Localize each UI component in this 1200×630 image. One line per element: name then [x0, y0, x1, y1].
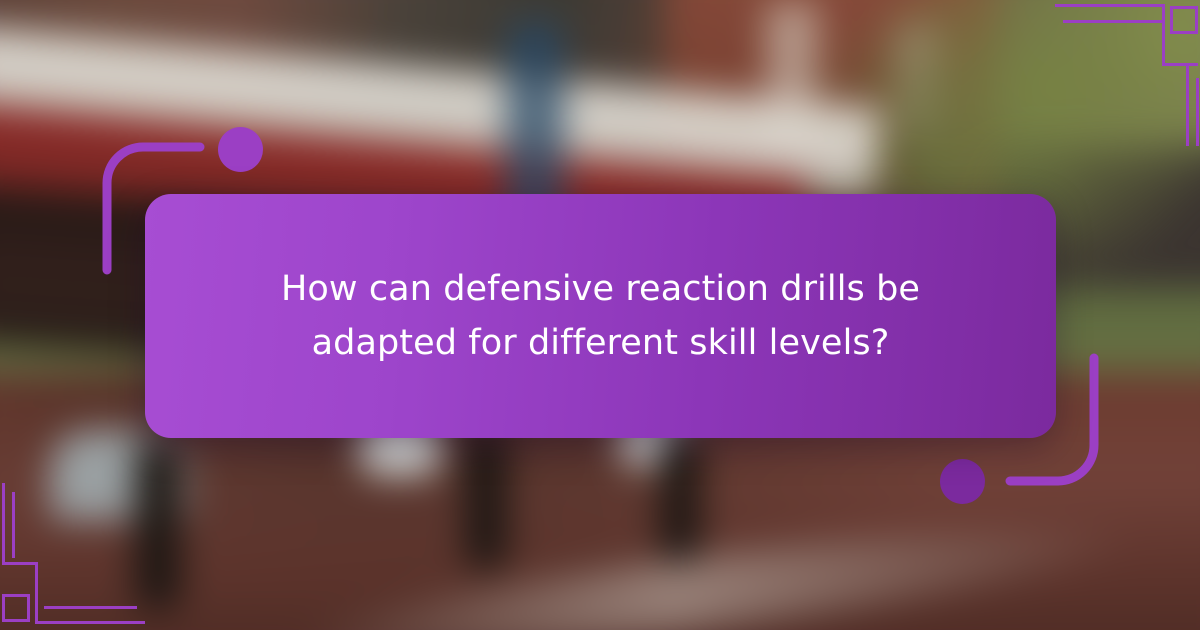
question-card: How can defensive reaction drills be ada… — [145, 194, 1056, 438]
frame-line-horizontal-inner — [1063, 20, 1164, 23]
dot-top-left — [218, 127, 263, 172]
frame-line-vertical-right-inner — [1196, 78, 1199, 146]
frame-corner-square — [2, 594, 30, 622]
dot-bottom-right — [940, 459, 985, 504]
frame-line-vertical-step — [35, 562, 38, 624]
frame-line-corner-connector — [2, 562, 38, 565]
frame-line-horizontal-outer — [1055, 4, 1165, 7]
frame-corner-square — [1170, 6, 1198, 34]
frame-line-vertical-outer — [2, 483, 5, 563]
background-player-figure — [660, 428, 700, 563]
frame-line-vertical-inner — [12, 492, 15, 558]
background-player-figure — [465, 430, 507, 570]
frame-line-horizontal-outer — [35, 621, 145, 624]
question-text: How can defensive reaction drills be ada… — [205, 262, 996, 371]
background-player-figure — [135, 440, 181, 610]
frame-line-vertical-outer — [1162, 4, 1165, 66]
frame-line-horizontal-inner — [44, 606, 137, 609]
frame-line-vertical-right-outer — [1186, 66, 1189, 146]
frame-line-corner-diagonal — [1162, 63, 1198, 66]
